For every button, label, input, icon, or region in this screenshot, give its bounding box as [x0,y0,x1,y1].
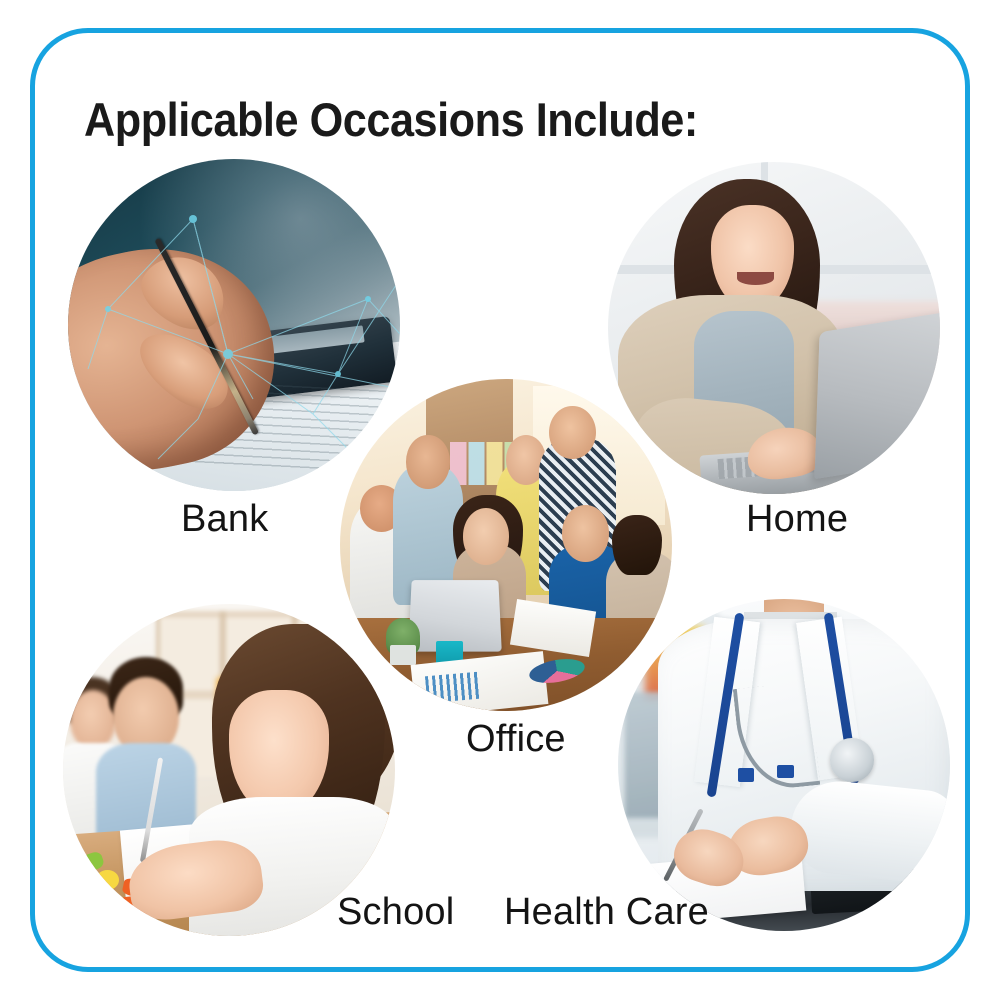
office-person-7-head [612,515,662,575]
office-person-6-head [562,505,608,561]
stethoscope-chestpiece [830,738,873,781]
home-laptop-screen [815,309,940,479]
stethoscope-clip-2 [777,765,794,778]
home-woman-smile [737,272,774,285]
occasion-label-home: Home [746,498,848,541]
occasion-label-office: Office [466,718,566,761]
occasion-image-health-care [618,599,950,931]
occasion-label-health-care: Health Care [504,891,709,934]
occasion-image-school [63,604,395,936]
product-feature-banner: Applicable Occasions Include: [0,0,1000,1000]
office-person-3-head [463,508,509,564]
occasion-label-school: School [337,891,454,934]
occasion-label-bank: Bank [181,498,268,541]
page-title: Applicable Occasions Include: [84,92,698,147]
school-letter-toy-yellow [96,870,119,890]
office-bar-chart [425,672,480,703]
office-person-5-head [549,406,595,459]
office-person-2-head [406,435,449,488]
stethoscope-clip-1 [738,768,755,781]
